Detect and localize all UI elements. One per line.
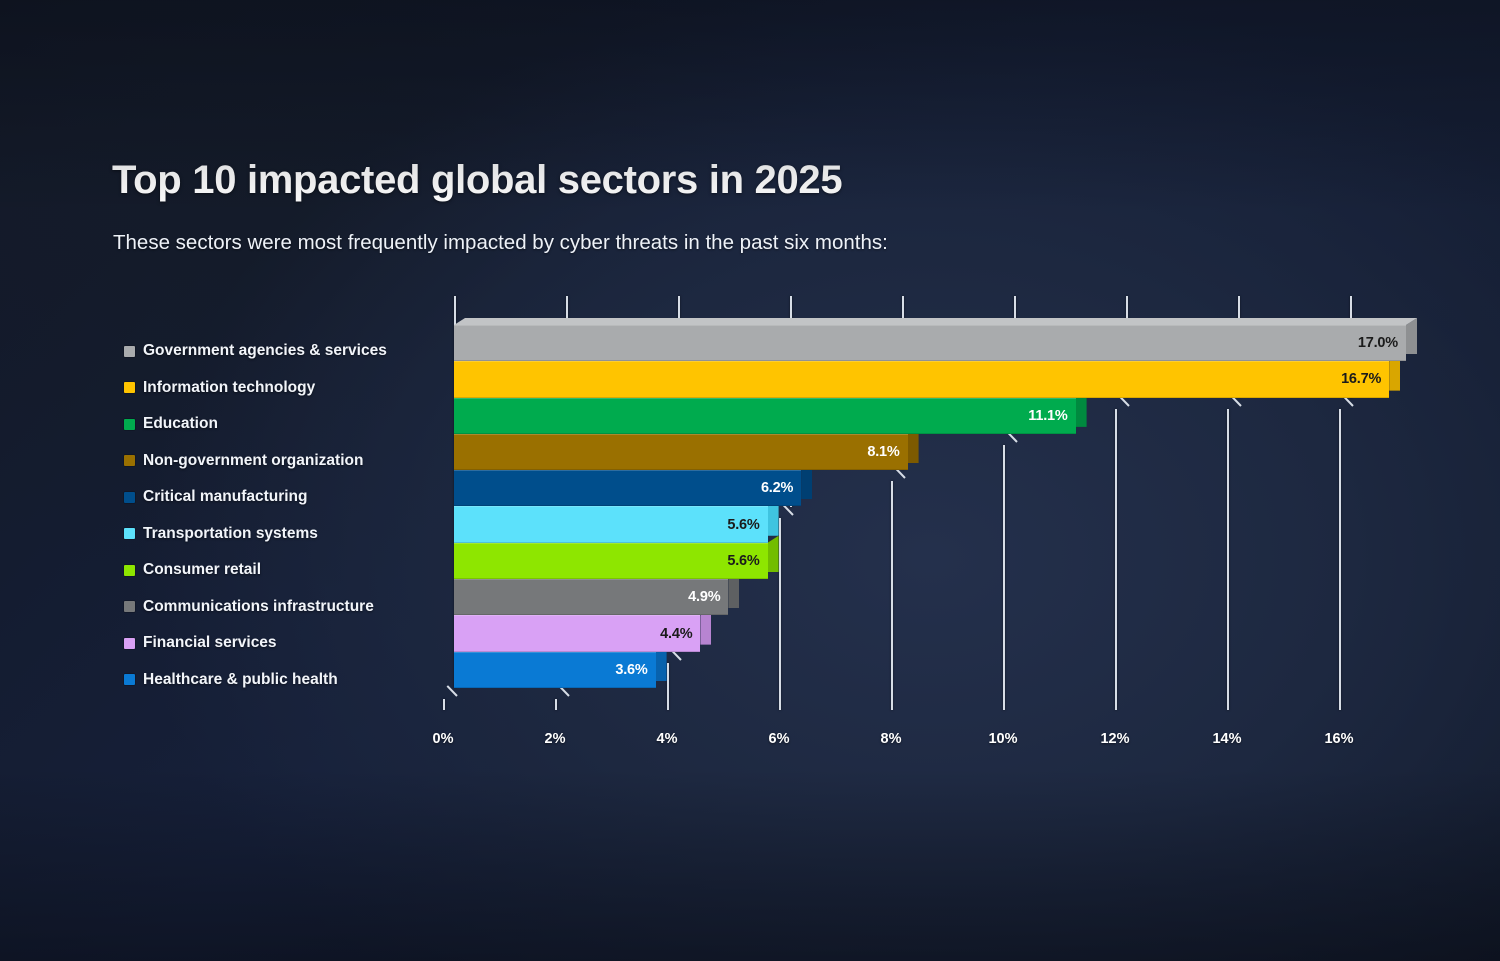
legend-item[interactable]: Transportation systems xyxy=(124,516,387,553)
legend-item[interactable]: Communications infrastructure xyxy=(124,589,387,626)
legend-item-label: Financial services xyxy=(143,634,277,652)
x-axis-tick-labels: 0%2%4%6%8%10%12%14%16% xyxy=(443,731,1403,755)
chart-legend: Government agencies & servicesInformatio… xyxy=(124,333,387,698)
legend-item-label: Healthcare & public health xyxy=(143,671,338,689)
page-subtitle: These sectors were most frequently impac… xyxy=(113,231,888,255)
bar-value-label: 4.9% xyxy=(688,579,720,615)
x-tick-label: 8% xyxy=(881,731,902,747)
legend-swatch-icon xyxy=(124,528,135,539)
x-tick-label: 4% xyxy=(657,731,678,747)
plot-area: 17.0%16.7%11.1%8.1%6.2%5.6%5.6%4.9%4.4%3… xyxy=(443,296,1403,716)
bar[interactable] xyxy=(454,470,801,506)
bar[interactable] xyxy=(454,361,1389,397)
legend-item-label: Critical manufacturing xyxy=(143,488,308,506)
legend-item[interactable]: Government agencies & services xyxy=(124,333,387,370)
x-tick-label: 0% xyxy=(433,731,454,747)
bar-value-label: 5.6% xyxy=(727,543,759,579)
legend-item[interactable]: Education xyxy=(124,406,387,443)
legend-swatch-icon xyxy=(124,638,135,649)
legend-swatch-icon xyxy=(124,455,135,466)
page-title: Top 10 impacted global sectors in 2025 xyxy=(112,158,842,203)
legend-item[interactable]: Information technology xyxy=(124,370,387,407)
chart-slide: Top 10 impacted global sectors in 2025 T… xyxy=(0,0,1500,961)
bar-value-label: 11.1% xyxy=(1028,398,1067,434)
x-tick-label: 2% xyxy=(545,731,566,747)
bar-value-label: 4.4% xyxy=(660,615,692,651)
legend-item-label: Communications infrastructure xyxy=(143,598,374,616)
legend-item-label: Information technology xyxy=(143,379,315,397)
legend-swatch-icon xyxy=(124,382,135,393)
x-tick-label: 14% xyxy=(1212,731,1241,747)
x-tick-label: 6% xyxy=(769,731,790,747)
legend-item[interactable]: Financial services xyxy=(124,625,387,662)
legend-item-label: Education xyxy=(143,415,218,433)
legend-item[interactable]: Healthcare & public health xyxy=(124,662,387,699)
bar-value-label: 3.6% xyxy=(615,652,647,688)
bar-value-label: 6.2% xyxy=(761,470,793,506)
legend-swatch-icon xyxy=(124,492,135,503)
bar-value-label: 17.0% xyxy=(1358,325,1398,361)
legend-swatch-icon xyxy=(124,674,135,685)
bar-value-label: 5.6% xyxy=(727,506,759,542)
x-tick-label: 10% xyxy=(988,731,1017,747)
legend-item[interactable]: Non-government organization xyxy=(124,443,387,480)
x-tick-label: 16% xyxy=(1324,731,1353,747)
legend-item-label: Transportation systems xyxy=(143,525,318,543)
legend-item[interactable]: Critical manufacturing xyxy=(124,479,387,516)
legend-item-label: Consumer retail xyxy=(143,561,261,579)
bar[interactable] xyxy=(454,506,768,542)
legend-swatch-icon xyxy=(124,346,135,357)
x-tick-label: 12% xyxy=(1100,731,1129,747)
legend-swatch-icon xyxy=(124,601,135,612)
bar[interactable] xyxy=(454,325,1406,361)
bar-value-label: 8.1% xyxy=(867,434,899,470)
legend-item-label: Non-government organization xyxy=(143,452,363,470)
legend-item[interactable]: Consumer retail xyxy=(124,552,387,589)
legend-swatch-icon xyxy=(124,419,135,430)
bar-value-label: 16.7% xyxy=(1341,361,1381,397)
bar[interactable] xyxy=(454,434,908,470)
bar[interactable] xyxy=(454,398,1076,434)
legend-item-label: Government agencies & services xyxy=(143,342,387,360)
legend-swatch-icon xyxy=(124,565,135,576)
bar[interactable] xyxy=(454,543,768,579)
